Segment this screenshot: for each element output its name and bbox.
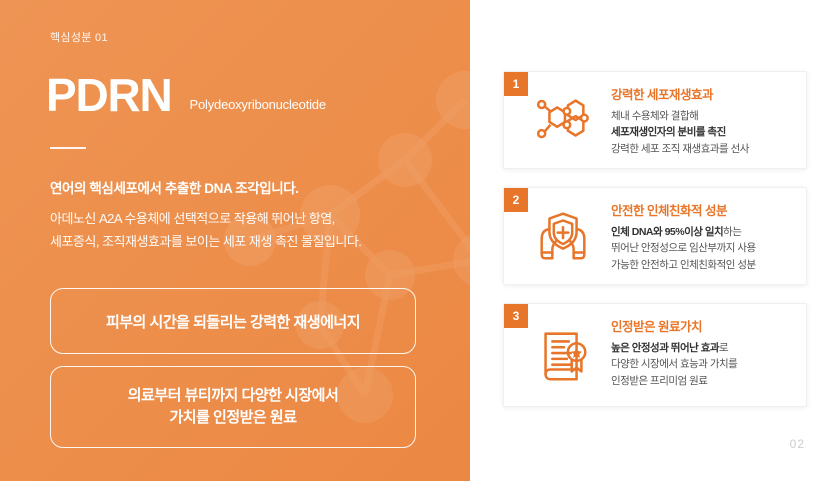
highlight-pill-2: 의료부터 뷰티까지 다양한 시장에서 가치를 인정받은 원료	[50, 366, 416, 448]
card-line-2-1-bold: 인체 DNA와 95%이상 일치	[611, 226, 723, 238]
highlight-pill-1-label: 피부의 시간을 되돌리는 강력한 재생에너지	[106, 311, 360, 332]
title-divider	[50, 147, 86, 149]
page-number: 02	[790, 437, 805, 451]
card-line-1-3: 강력한 세포 조직 재생효과를 선사	[611, 141, 798, 157]
hands-shield-cross-icon	[532, 205, 594, 267]
left-orange-panel: 핵심성분 01 PDRN Polydeoxyribonucleotide 연어의…	[0, 0, 470, 481]
card-line-2-1: 인체 DNA와 95%이상 일치하는	[611, 224, 798, 240]
page-subtitle: Polydeoxyribonucleotide	[190, 97, 326, 112]
card-body-2: 안전한 인체친화적 성분 인체 DNA와 95%이상 일치하는 뛰어난 안정성으…	[611, 200, 798, 273]
card-line-2-1-rest: 하는	[723, 226, 741, 238]
title-row: PDRN Polydeoxyribonucleotide	[46, 72, 326, 118]
card-line-2-3: 가능한 안전하고 인체친화적인 성분	[611, 257, 798, 273]
card-line-3-1-rest: 로	[719, 342, 728, 354]
card-line-1-2: 세포재생인자의 분비를 촉진	[611, 124, 798, 140]
card-badge-3: 3	[504, 304, 528, 328]
eyebrow-label: 핵심성분 01	[50, 29, 108, 45]
description-text: 아데노신 A2A 수용체에 선택적으로 작용해 뛰어난 항염, 세포증식, 조직…	[50, 208, 440, 254]
card-title-1: 강력한 세포재생효과	[611, 84, 798, 103]
slide-root: 핵심성분 01 PDRN Polydeoxyribonucleotide 연어의…	[0, 0, 835, 481]
card-badge-2: 2	[504, 188, 528, 212]
card-line-1-1: 체내 수용체와 결합해	[611, 108, 798, 124]
card-body-3: 인정받은 원료가치 높은 안정성과 뛰어난 효과로 다양한 시장에서 효능과 가…	[611, 316, 798, 389]
lead-text: 연어의 핵심세포에서 추출한 DNA 조각입니다.	[50, 177, 440, 197]
molecule-hexagon-icon	[532, 89, 594, 151]
card-line-2-2: 뛰어난 안정성으로 임산부까지 사용	[611, 240, 798, 256]
feature-card-3: 3 인정받은 원료가치 높은 안정성과 뛰어난 효과로 다	[503, 303, 807, 407]
highlight-pill-2-line-1: 의료부터 뷰티까지 다양한 시장에서	[128, 385, 339, 408]
feature-card-2: 2 안전한 인체친화적 성분 인체 DNA와 95%이상 일치하는 뛰어난 안정…	[503, 187, 807, 285]
card-title-3: 인정받은 원료가치	[611, 316, 798, 335]
page-title: PDRN	[46, 72, 172, 118]
feature-card-1: 1 강	[503, 71, 807, 169]
feature-card-list: 1 강	[503, 0, 835, 481]
card-badge-1: 1	[504, 72, 528, 96]
description-line-2: 세포증식, 조직재생효과를 보이는 세포 재생 촉진 물질입니다.	[50, 231, 440, 254]
description-line-1: 아데노신 A2A 수용체에 선택적으로 작용해 뛰어난 항염,	[50, 208, 440, 231]
card-line-3-1-bold: 높은 안정성과 뛰어난 효과	[611, 342, 719, 354]
card-line-3-2: 다양한 시장에서 효능과 가치를	[611, 356, 798, 372]
card-line-3-1: 높은 안정성과 뛰어난 효과로	[611, 340, 798, 356]
highlight-pill-2-line-2: 가치를 인정받은 원료	[128, 407, 339, 430]
card-title-2: 안전한 인체친화적 성분	[611, 200, 798, 219]
highlight-pill-1: 피부의 시간을 되돌리는 강력한 재생에너지	[50, 288, 416, 354]
certificate-award-icon	[532, 324, 594, 386]
card-line-3-3: 인정받은 프리미엄 원료	[611, 373, 798, 389]
card-body-1: 강력한 세포재생효과 체내 수용체와 결합해 세포재생인자의 분비를 촉진 강력…	[611, 84, 798, 157]
